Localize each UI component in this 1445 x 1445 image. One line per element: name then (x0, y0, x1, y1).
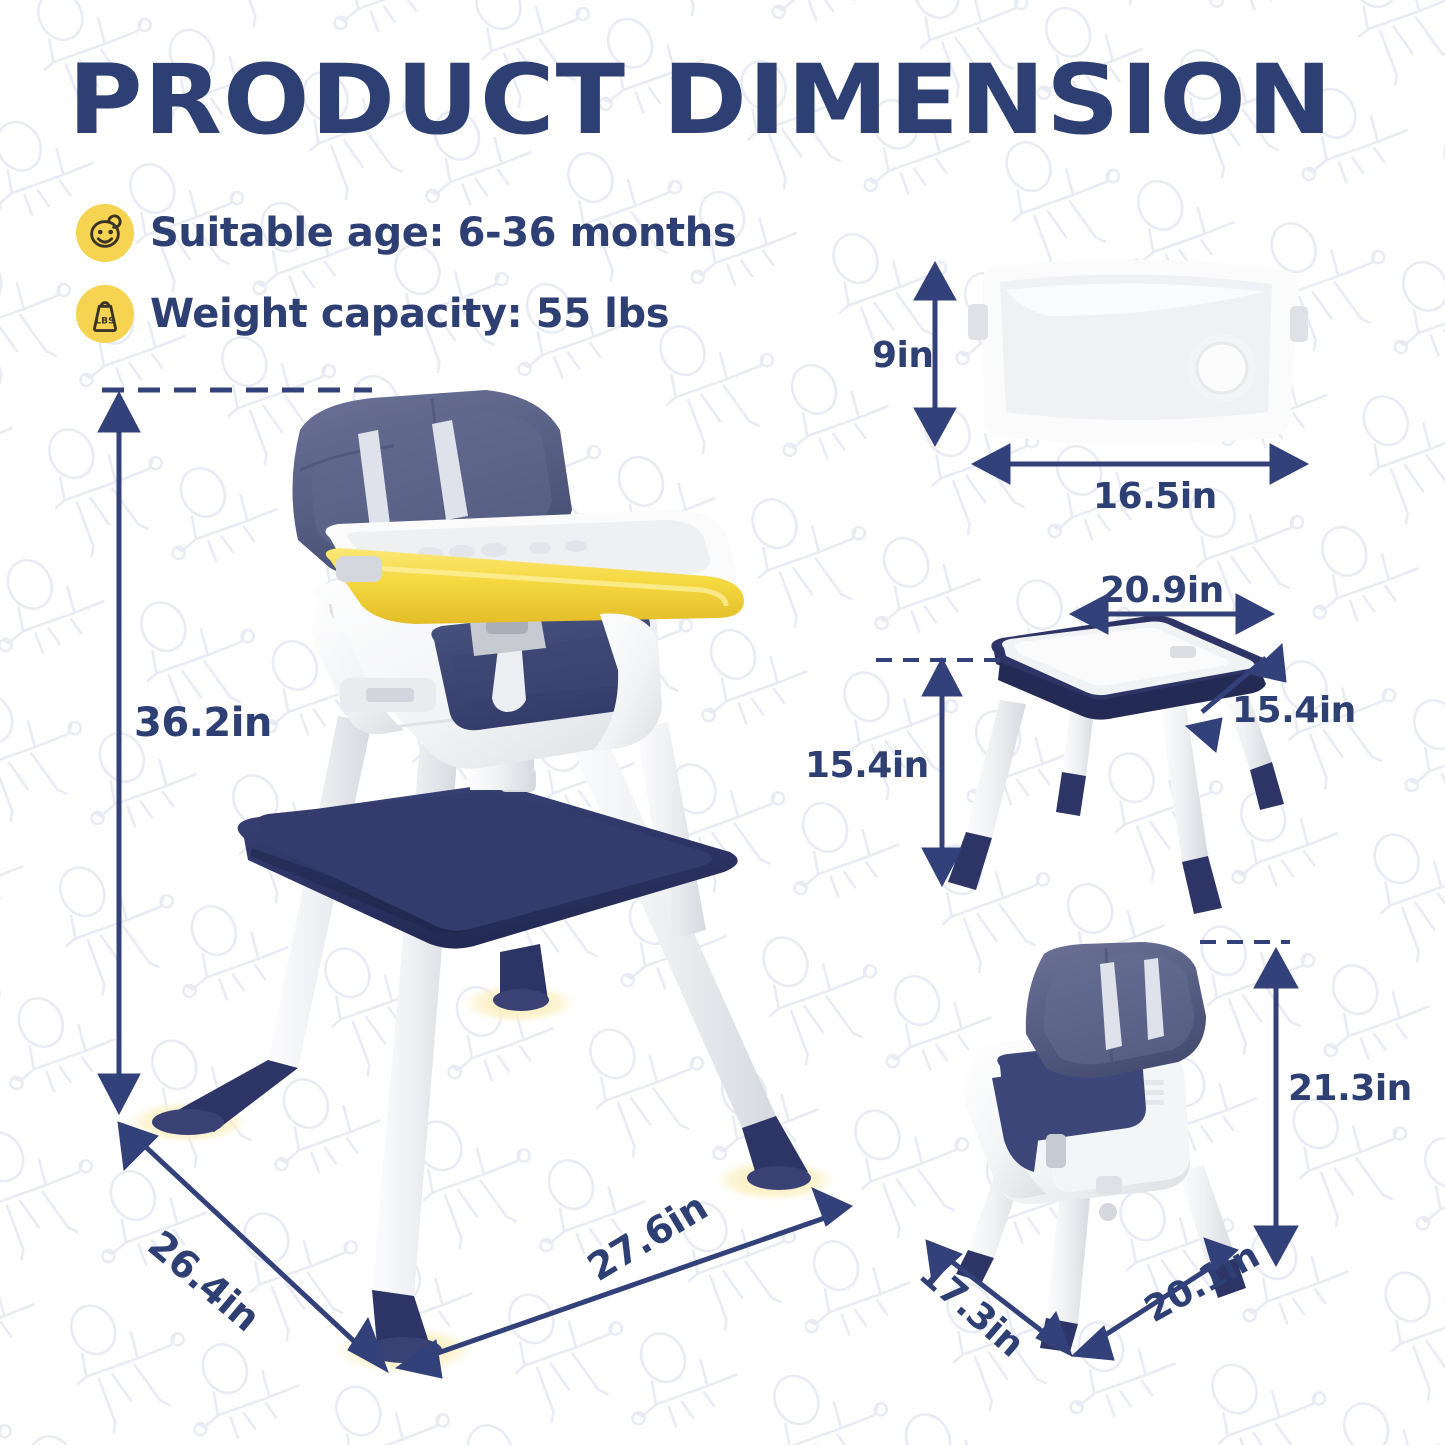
dimension-label-tray-width: 16.5in (1093, 476, 1217, 517)
weight-lbs-icon: LBS (76, 285, 134, 343)
dimension-label-main-height: 36.2in (134, 700, 272, 746)
dimension-label-table-height: 15.4in (805, 745, 929, 786)
spec-label-suitable-age: Suitable age: 6-36 months (150, 210, 736, 256)
dimension-label-main-width: 27.6in (580, 1185, 715, 1290)
page-title: PRODUCT DIMENSION (68, 52, 1192, 148)
dimension-label-booster-height: 21.3in (1288, 1068, 1412, 1109)
dimension-label-main-depth: 26.4in (140, 1222, 269, 1340)
dimension-label-booster-width: 20.1in (1138, 1235, 1266, 1331)
baby-face-icon (76, 204, 134, 262)
dimension-label-booster-depth: 17.3in (911, 1253, 1031, 1365)
lbs-icon-text: LBS (95, 317, 114, 327)
spec-label-weight-capacity: Weight capacity: 55 lbs (150, 291, 669, 337)
dimension-label-table-depth: 15.4in (1232, 690, 1356, 731)
dimension-label-tray-height: 9in (872, 335, 934, 376)
dimension-label-table-width: 20.9in (1100, 570, 1224, 611)
spec-row-weight-capacity: LBS Weight capacity: 55 lbs (76, 285, 669, 343)
spec-row-suitable-age: Suitable age: 6-36 months (76, 204, 736, 262)
